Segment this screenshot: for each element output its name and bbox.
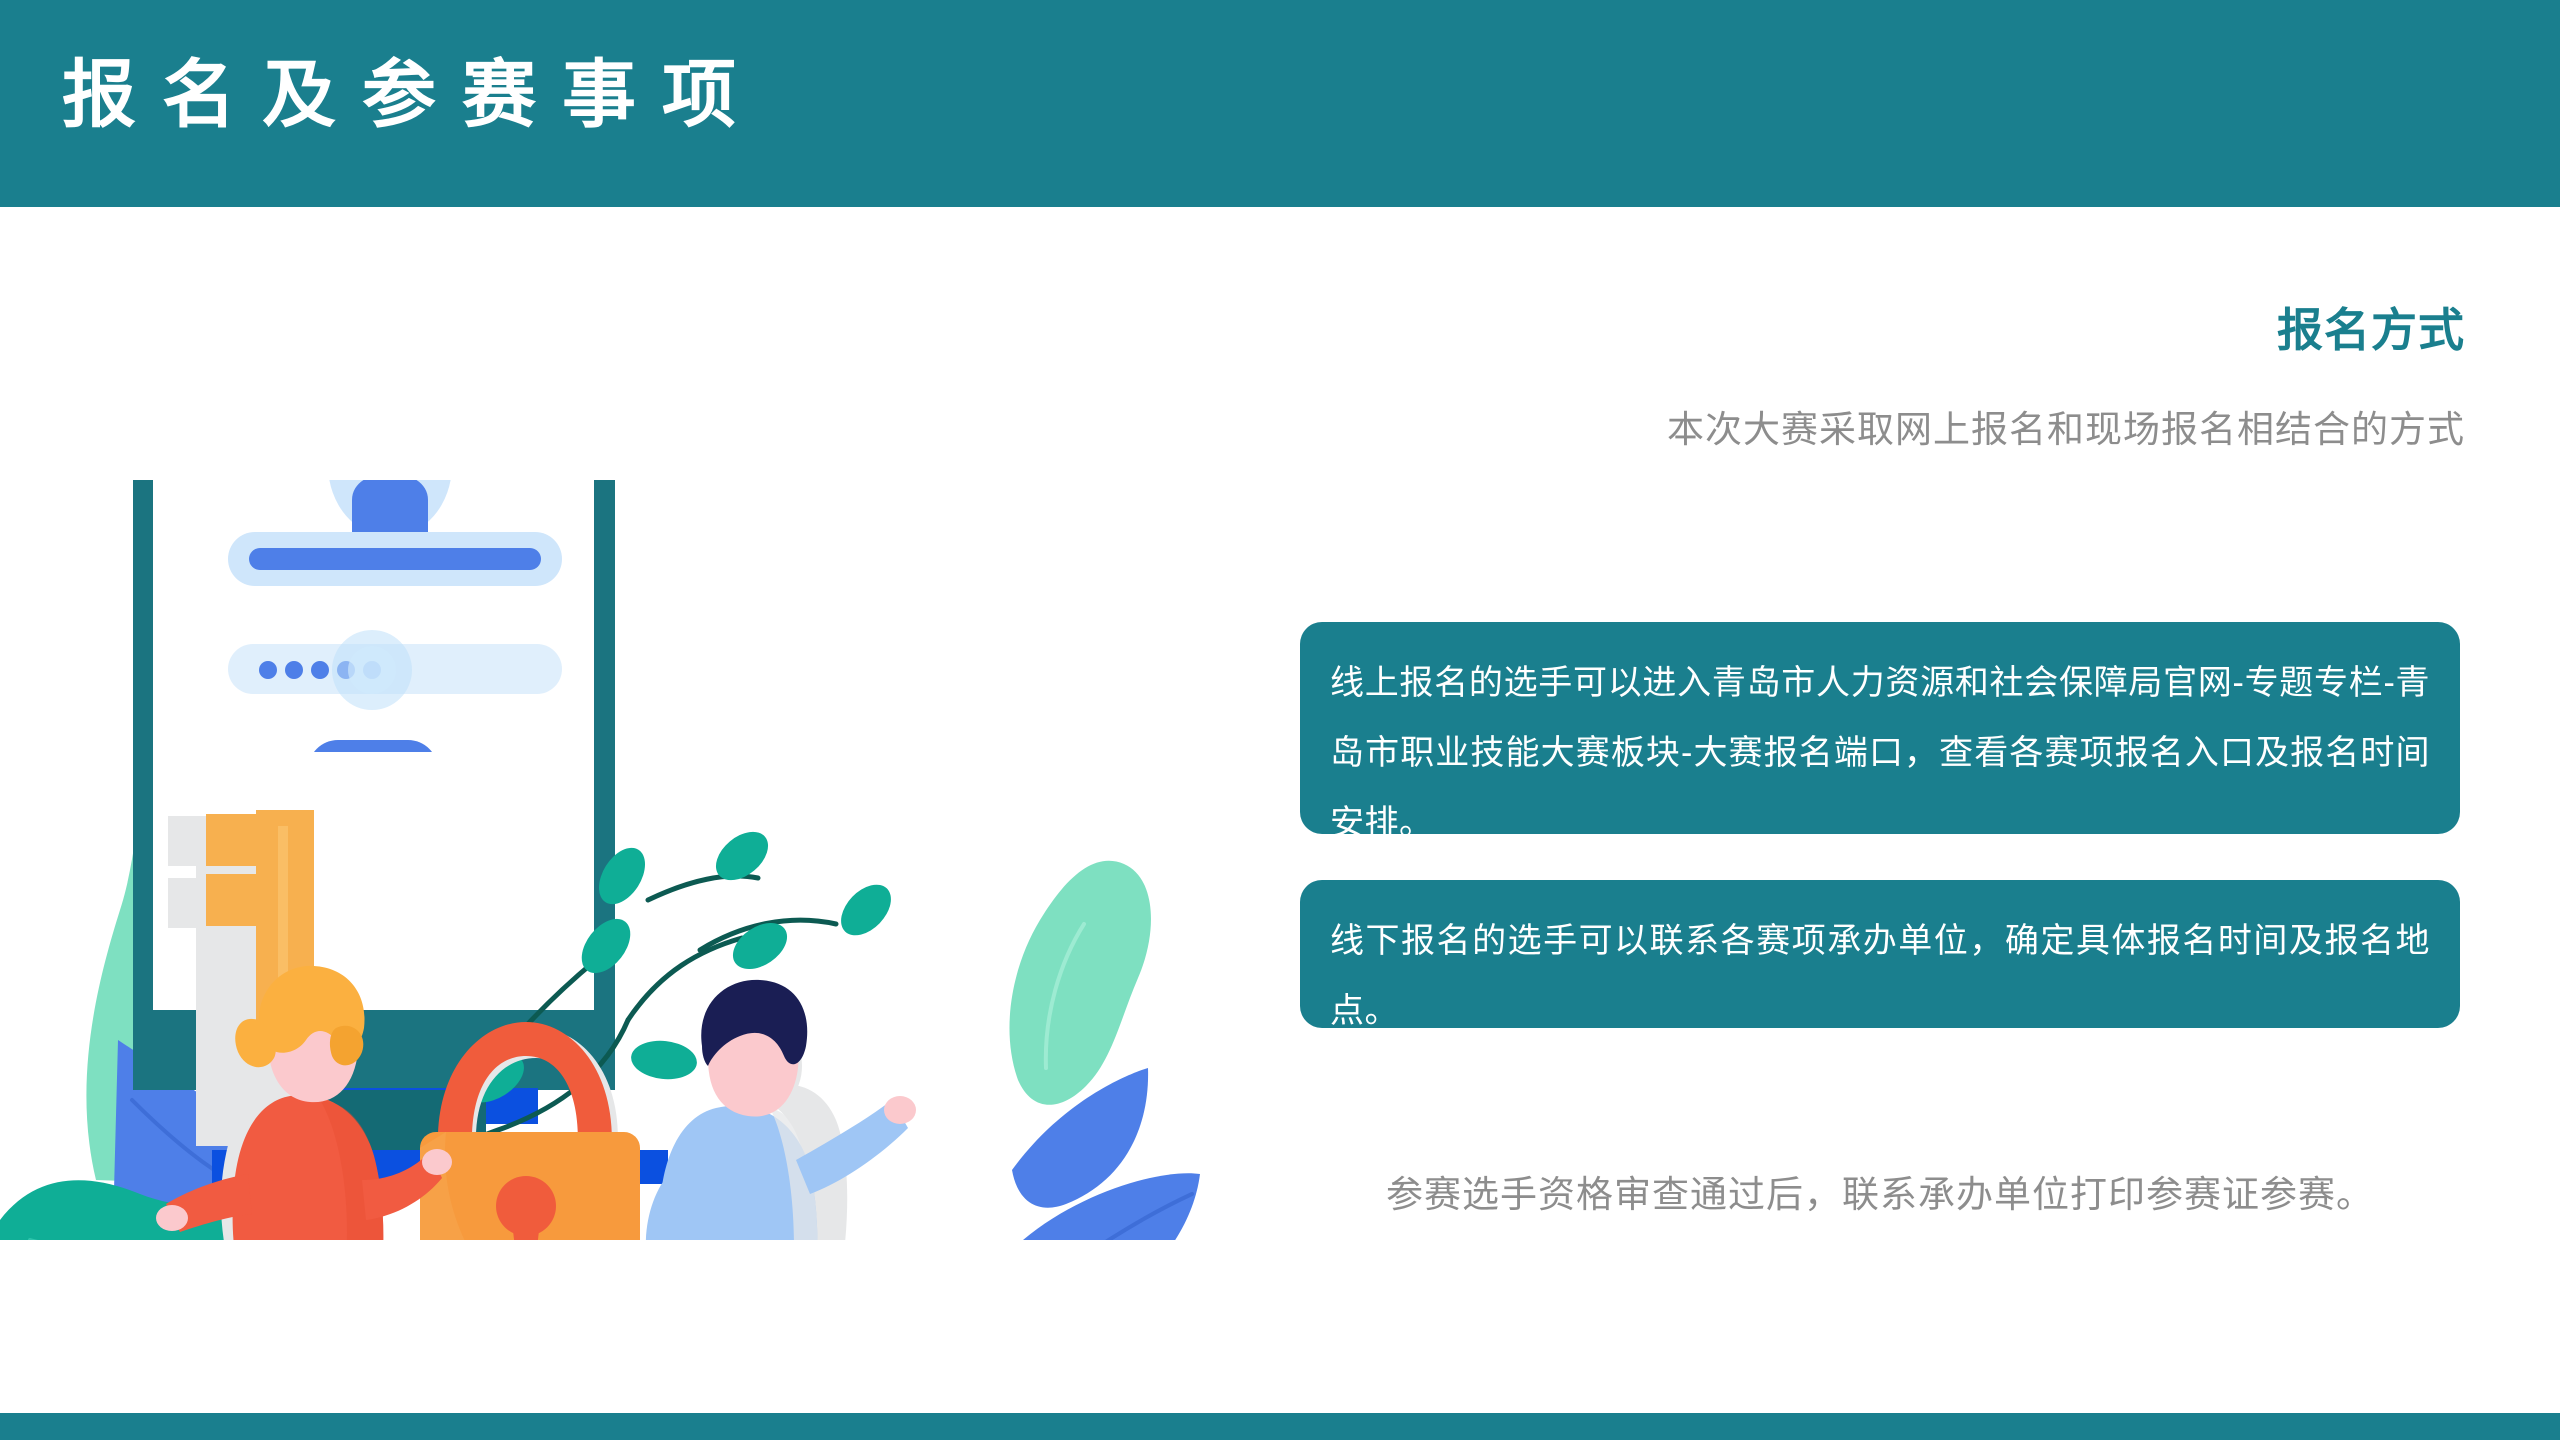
footer-bar [0, 1413, 2560, 1440]
page-title: 报名及参赛事项 [62, 36, 762, 154]
online-registration-text: 线上报名的选手可以进入青岛市人力资源和社会保障局官网-专题专栏-青岛市职业技能大… [1330, 648, 2430, 858]
registration-info-column: 报名方式 本次大赛采取网上报名和现场报名相结合的方式 [1285, 300, 2465, 456]
offline-registration-text: 线下报名的选手可以联系各赛项承办单位，确定具体报名时间及报名地点。 [1330, 906, 2430, 1046]
section-subtitle: 本次大赛采取网上报名和现场报名相结合的方式 [1285, 404, 2465, 456]
closing-note: 参赛选手资格审查通过后，联系承办单位打印参赛证参赛。 [1300, 1168, 2460, 1222]
offline-registration-card: 线下报名的选手可以联系各赛项承办单位，确定具体报名时间及报名地点。 [1300, 880, 2460, 1028]
person-man [646, 980, 916, 1240]
slide-root: 报名及参赛事项 [0, 0, 2560, 1440]
online-registration-card: 线上报名的选手可以进入青岛市人力资源和社会保障局官网-专题专栏-青岛市职业技能大… [1300, 622, 2460, 834]
foliage-right [942, 861, 1200, 1240]
registration-illustration [0, 480, 1260, 1240]
header-bar: 报名及参赛事项 [0, 0, 2560, 207]
section-heading: 报名方式 [1285, 300, 2465, 360]
